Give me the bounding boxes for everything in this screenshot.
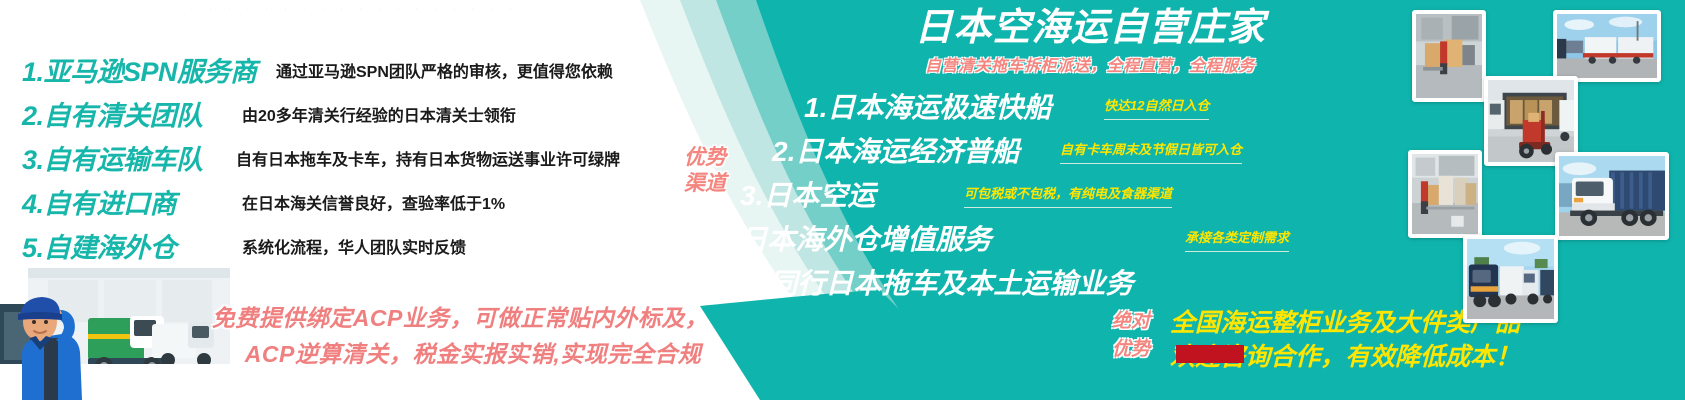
service-item: 3.日本空运 可包税或不包税，有纯电及食器渠道 xyxy=(700,174,1300,218)
service-title: 3.日本空运 xyxy=(740,174,875,218)
left-item-desc: 由20多年清关行经验的日本清关士领衔 xyxy=(242,100,516,134)
left-item-title: 2.自有清关团队 xyxy=(22,96,203,136)
acp-callout: 免费提供绑定ACP业务，可做正常贴内外标及， ACP逆算清关，税金实报实销,实现… xyxy=(150,300,770,372)
service-note: 可包税或不包税，有纯电及食器渠道 xyxy=(964,182,1172,208)
photo-trucks-parked-row xyxy=(1553,10,1661,82)
page-title: 日本空海运自营庄家 xyxy=(880,4,1300,52)
service-note: 自有卡车周末及节假日皆可入仓 xyxy=(1060,138,1242,164)
page-subtitle: 自营清关拖车拆柜派送，全程直营，全程服务 xyxy=(880,56,1300,78)
photo-truck-fleet-lot xyxy=(1463,235,1558,323)
left-item-desc: 在日本海关信誉良好，查验率低于1% xyxy=(242,188,505,222)
absolute-advantage-line-2: 优势 xyxy=(1100,336,1162,364)
service-title: 4.日本海外仓增值服务 xyxy=(716,218,991,262)
bottom-right-message: 全国海运整柜业务及大件类产品 欢迎咨询合作，有效降低成本！ xyxy=(1170,306,1680,374)
list-item: 4.自有进口商 在日本海关信誉良好，查验率低于1% xyxy=(14,184,674,228)
service-item: 2.日本海运经济普船 自有卡车周末及节假日皆可入仓 xyxy=(700,130,1300,174)
left-item-title: 1.亚马逊SPN服务商 xyxy=(22,52,257,92)
service-note: 快达12自然日入仓 xyxy=(1104,94,1209,120)
photo-warehouse-cargo-stacks xyxy=(1408,150,1482,238)
photo-container-truck-white xyxy=(1555,152,1669,240)
bottom-right-line-1: 全国海运整柜业务及大件类产品 xyxy=(1170,306,1680,340)
watermark-row: · · · · · · · · · · · · · · · · · · xyxy=(190,2,710,44)
red-redaction-bar xyxy=(1176,345,1244,363)
promo-banner: · · · · · · · · · · · · · · · · · · 1.亚马… xyxy=(0,0,1685,400)
acp-callout-line-1: 免费提供绑定ACP业务，可做正常贴内外标及， xyxy=(150,300,770,336)
left-item-desc: 系统化流程，华人团队实时反馈 xyxy=(242,232,466,266)
absolute-advantage-line-1: 绝对 xyxy=(1100,308,1162,336)
service-title: 2.日本海运经济普船 xyxy=(772,130,1019,174)
bottom-right-line-2: 欢迎咨询合作，有效降低成本！ xyxy=(1170,340,1680,374)
service-item: 5.承接同行日本拖车及本土运输业务 xyxy=(700,262,1300,306)
list-item: 2.自有清关团队 由20多年清关行经验的日本清关士领衔 xyxy=(14,96,674,140)
service-item: 4.日本海外仓增值服务 承接各类定制需求 xyxy=(700,218,1300,262)
left-item-title: 3.自有运输车队 xyxy=(22,140,203,180)
service-list: 1.日本海运极速快船 快达12自然日入仓 2.日本海运经济普船 自有卡车周末及节… xyxy=(700,86,1300,306)
left-item-desc: 通过亚马逊SPN团队严格的审核，更值得您依赖 xyxy=(276,56,613,90)
acp-callout-line-2: ACP逆算清关，税金实报实销,实现完全合规 xyxy=(150,336,770,372)
left-item-title: 4.自有进口商 xyxy=(22,184,176,224)
left-item-desc: 自有日本拖车及卡车，持有日本货物运送事业许可绿牌 xyxy=(236,144,620,178)
service-title: 1.日本海运极速快船 xyxy=(804,86,1051,130)
photo-warehouse-worker-pallet xyxy=(1412,10,1486,102)
list-item: 3.自有运输车队 自有日本拖车及卡车，持有日本货物运送事业许可绿牌 xyxy=(14,140,674,184)
service-note: 承接各类定制需求 xyxy=(1185,226,1289,252)
list-item: 1.亚马逊SPN服务商 通过亚马逊SPN团队严格的审核，更值得您依赖 xyxy=(14,52,674,96)
service-title: 5.承接同行日本拖车及本土运输业务 xyxy=(690,262,1133,306)
absolute-advantage-badge: 绝对 优势 xyxy=(1100,308,1162,364)
left-feature-list: 1.亚马逊SPN服务商 通过亚马逊SPN团队严格的审核，更值得您依赖 2.自有清… xyxy=(14,52,674,272)
service-item: 1.日本海运极速快船 快达12自然日入仓 xyxy=(700,86,1300,130)
